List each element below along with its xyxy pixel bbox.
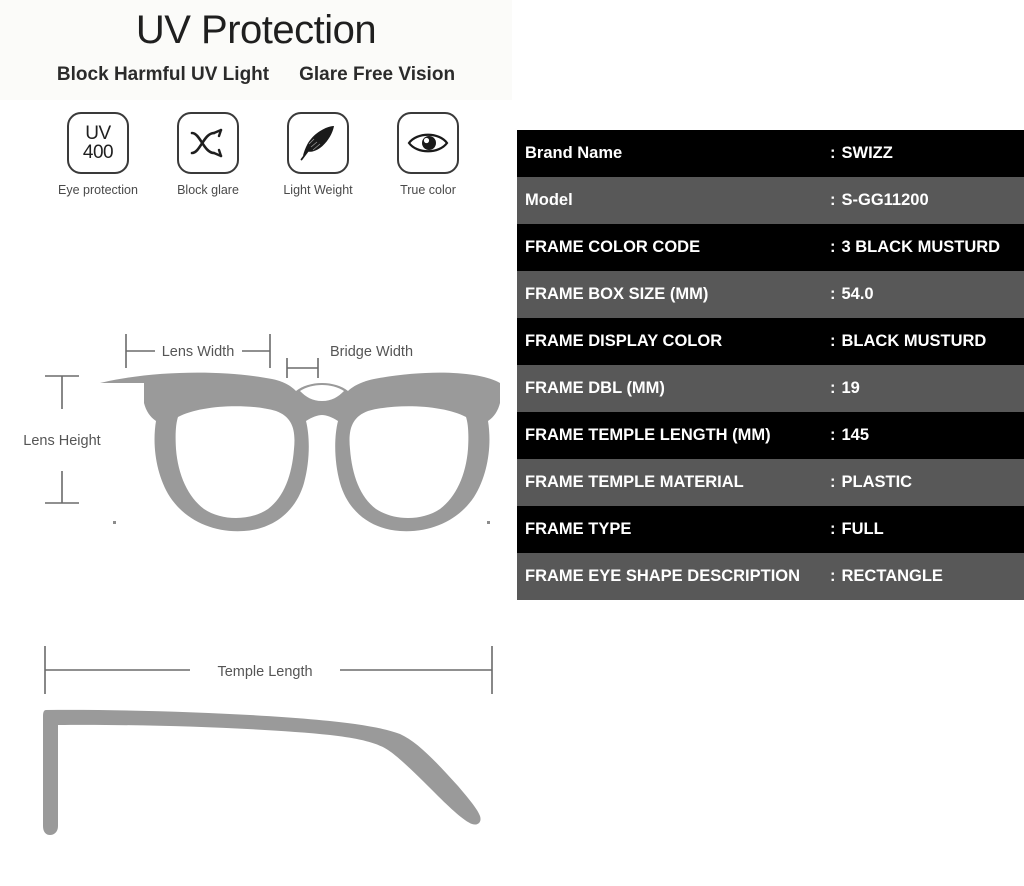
temple-length-label: Temple Length: [217, 664, 312, 680]
spec-colon: :: [830, 144, 836, 163]
spec-value-wrap: : RECTANGLE: [830, 567, 1024, 586]
temple-arm-diagram: Temple Length: [0, 630, 512, 860]
table-row: FRAME TEMPLE LENGTH (MM) : 145: [517, 412, 1024, 459]
spec-value-wrap: : FULL: [830, 520, 1024, 539]
uv400-icon-line1: UV: [83, 124, 113, 143]
spec-label: FRAME TEMPLE LENGTH (MM): [517, 426, 830, 445]
feature-icon-row: UV 400 Eye protection: [48, 112, 478, 197]
promo-subtitle-block-uv: Block Harmful UV Light: [57, 64, 269, 86]
spec-colon: :: [830, 379, 836, 398]
spec-value: 19: [842, 379, 860, 398]
frame-silhouette: [100, 373, 500, 532]
table-row: FRAME DISPLAY COLOR : BLACK MUSTURD: [517, 318, 1024, 365]
spec-label: FRAME TEMPLE MATERIAL: [517, 473, 830, 492]
spec-colon: :: [830, 426, 836, 445]
promo-panel: UV Protection Block Harmful UV Light Gla…: [0, 0, 517, 886]
spec-value-wrap: : 54.0: [830, 285, 1024, 304]
spec-value-wrap: : 19: [830, 379, 1024, 398]
spec-value: 54.0: [842, 285, 874, 304]
spec-colon: :: [830, 473, 836, 492]
eye-icon: [397, 112, 459, 174]
spec-value: S-GG11200: [842, 191, 929, 210]
specification-table: Brand Name : SWIZZ Model : S-GG11200 FRA…: [517, 130, 1024, 600]
table-row: FRAME TEMPLE MATERIAL : PLASTIC: [517, 459, 1024, 506]
spec-colon: :: [830, 285, 836, 304]
spec-value: FULL: [842, 520, 884, 539]
spec-label: Brand Name: [517, 144, 830, 163]
spec-label: FRAME BOX SIZE (MM): [517, 285, 830, 304]
spec-value: BLACK MUSTURD: [842, 332, 987, 351]
table-row: Model : S-GG11200: [517, 177, 1024, 224]
lens-height-label: Lens Height: [23, 433, 100, 449]
spec-value: 145: [842, 426, 870, 445]
spec-colon: :: [830, 332, 836, 351]
shuffle-arrows-icon: [177, 112, 239, 174]
promo-title: UV Protection: [0, 8, 512, 53]
spec-label: FRAME COLOR CODE: [517, 238, 830, 257]
feature-true-color: True color: [378, 112, 478, 197]
spec-colon: :: [830, 191, 836, 210]
lens-width-label: Lens Width: [162, 344, 235, 360]
spec-label: FRAME DBL (MM): [517, 379, 830, 398]
uv400-icon: UV 400: [67, 112, 129, 174]
temple-silhouette: [43, 710, 481, 835]
spec-value-wrap: : PLASTIC: [830, 473, 1024, 492]
feature-eye-protection: UV 400 Eye protection: [48, 112, 148, 197]
uv400-icon-line2: 400: [83, 143, 113, 162]
bridge-width-dimension: [287, 358, 318, 378]
spec-label: Model: [517, 191, 830, 210]
frame-front-diagram: Lens Width Bridge Width Lens Height: [0, 325, 512, 575]
spec-label: FRAME EYE SHAPE DESCRIPTION: [517, 567, 830, 586]
spec-value: RECTANGLE: [842, 567, 943, 586]
spec-value-wrap: : 3 BLACK MUSTURD: [830, 238, 1024, 257]
spec-value-wrap: : BLACK MUSTURD: [830, 332, 1024, 351]
spec-label: FRAME DISPLAY COLOR: [517, 332, 830, 351]
spec-value: PLASTIC: [842, 473, 913, 492]
spec-colon: :: [830, 567, 836, 586]
spec-value-wrap: : 145: [830, 426, 1024, 445]
feather-icon: [287, 112, 349, 174]
spec-value-wrap: : S-GG11200: [830, 191, 1024, 210]
feature-caption-eye-protection: Eye protection: [58, 183, 138, 197]
table-row: FRAME COLOR CODE : 3 BLACK MUSTURD: [517, 224, 1024, 271]
promo-subtitle-glare-free: Glare Free Vision: [299, 64, 455, 86]
spec-value: 3 BLACK MUSTURD: [842, 238, 1001, 257]
spec-value-wrap: : SWIZZ: [830, 144, 1024, 163]
table-row: FRAME EYE SHAPE DESCRIPTION : RECTANGLE: [517, 553, 1024, 600]
table-row: FRAME TYPE : FULL: [517, 506, 1024, 553]
feature-caption-true-color: True color: [400, 183, 456, 197]
table-row: FRAME DBL (MM) : 19: [517, 365, 1024, 412]
feature-light-weight: Light Weight: [268, 112, 368, 197]
table-row: Brand Name : SWIZZ: [517, 130, 1024, 177]
feature-caption-light-weight: Light Weight: [283, 183, 352, 197]
bridge-width-label: Bridge Width: [330, 344, 413, 360]
table-row: FRAME BOX SIZE (MM) : 54.0: [517, 271, 1024, 318]
spec-colon: :: [830, 520, 836, 539]
spec-colon: :: [830, 238, 836, 257]
spec-label: FRAME TYPE: [517, 520, 830, 539]
feature-block-glare: Block glare: [158, 112, 258, 197]
promo-subtitle-row: Block Harmful UV Light Glare Free Vision: [0, 64, 512, 86]
spec-value: SWIZZ: [842, 144, 893, 163]
feature-caption-block-glare: Block glare: [177, 183, 239, 197]
